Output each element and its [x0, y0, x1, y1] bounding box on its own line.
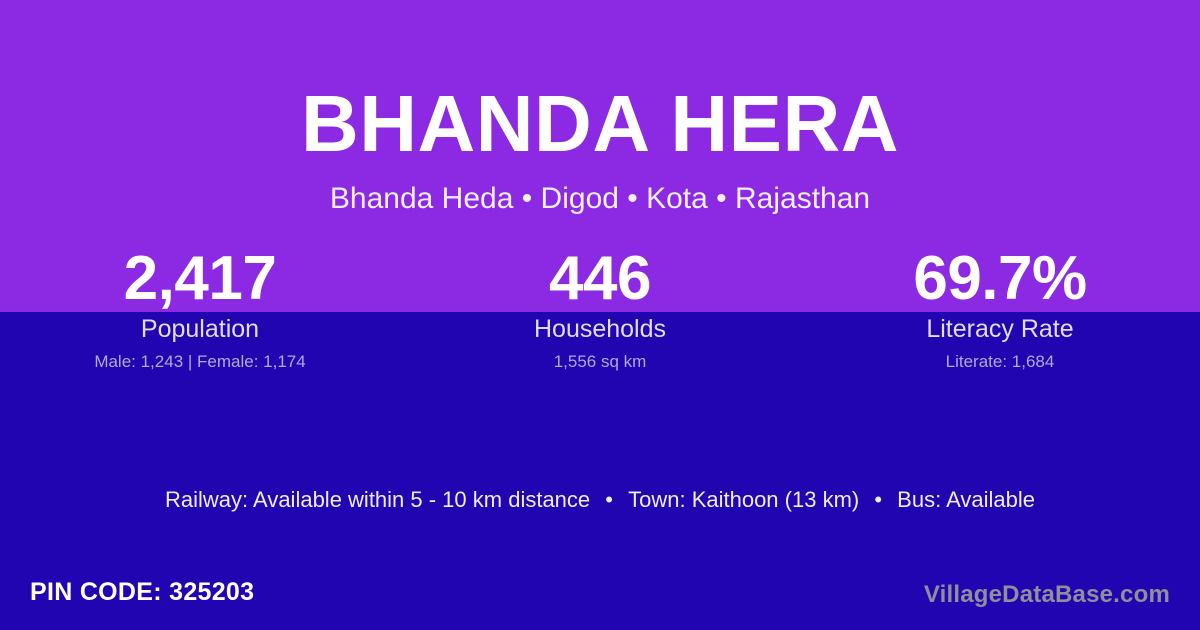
stat-card-population: 2,417 Population Male: 1,243 | Female: 1…	[0, 246, 400, 372]
stat-label-households: Households	[400, 314, 800, 344]
amenities-line: Railway: Available within 5 - 10 km dist…	[0, 486, 1200, 514]
amenity-town: Town: Kaithoon (13 km)	[628, 486, 859, 514]
stat-sub-population: Male: 1,243 | Female: 1,174	[0, 352, 400, 372]
stat-card-literacy: 69.7% Literacy Rate Literate: 1,684	[800, 246, 1200, 372]
bullet-separator-icon: •	[865, 486, 891, 514]
stat-value-population: 2,417	[0, 246, 400, 312]
breadcrumb: Bhanda Heda • Digod • Kota • Rajasthan	[0, 181, 1200, 217]
bullet-separator-icon: •	[596, 486, 622, 514]
stat-label-population: Population	[0, 314, 400, 344]
stat-card-households: 446 Households 1,556 sq km	[400, 246, 800, 372]
pin-code-label: PIN CODE: 325203	[30, 576, 254, 608]
stat-label-literacy: Literacy Rate	[800, 314, 1200, 344]
amenity-railway: Railway: Available within 5 - 10 km dist…	[165, 486, 590, 514]
village-info-card: BHANDA HERA Bhanda Heda • Digod • Kota •…	[0, 0, 1200, 630]
amenity-bus: Bus: Available	[897, 486, 1035, 514]
stats-row: 2,417 Population Male: 1,243 | Female: 1…	[0, 246, 1200, 372]
stat-sub-households: 1,556 sq km	[400, 352, 800, 372]
stat-value-literacy: 69.7%	[800, 246, 1200, 312]
footer: PIN CODE: 325203 VillageDataBase.com	[0, 558, 1200, 630]
stat-sub-literacy: Literate: 1,684	[800, 352, 1200, 372]
page-title: BHANDA HERA	[0, 84, 1200, 164]
site-brand-label: VillageDataBase.com	[924, 580, 1170, 610]
stat-value-households: 446	[400, 246, 800, 312]
